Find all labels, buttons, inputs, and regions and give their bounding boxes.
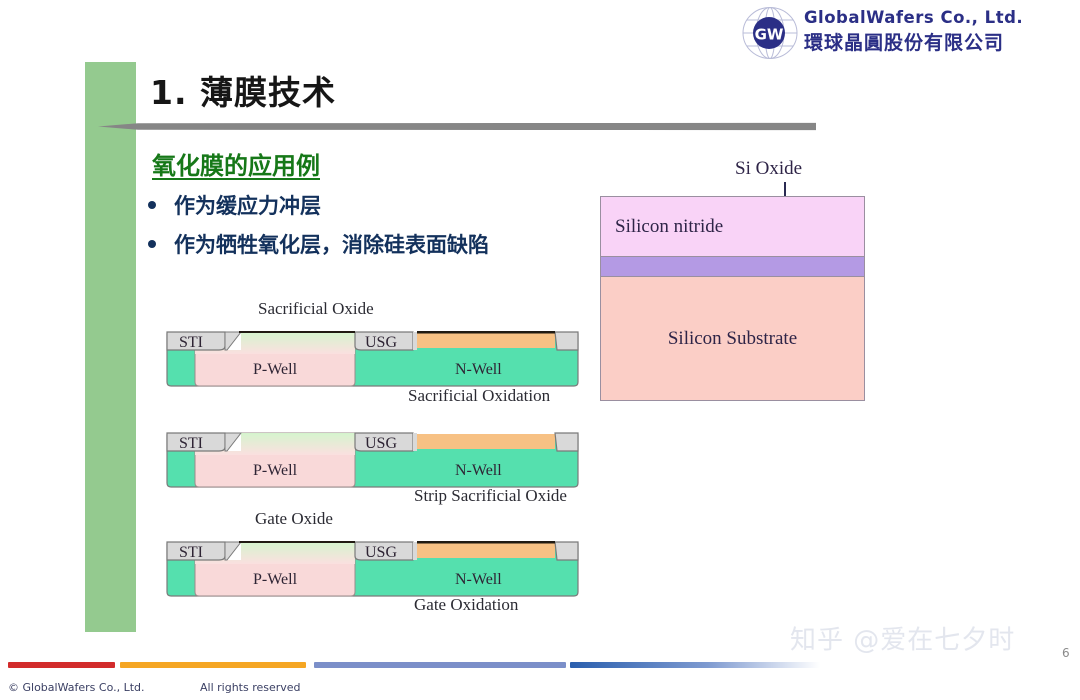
logo-mark-text: GW xyxy=(755,26,784,44)
si-oxide-callout-label: Si Oxide xyxy=(735,158,802,180)
film-stack-diagram: Silicon nitride Silicon Substrate xyxy=(600,196,865,401)
xsec-2-label-usg: USG xyxy=(365,435,397,452)
xsec-1-label-nwell: N-Well xyxy=(455,361,502,378)
footer-bar-orange xyxy=(120,662,306,668)
title-divider-rule xyxy=(98,122,816,131)
logo-company-name-cn: 環球晶圓股份有限公司 xyxy=(804,28,1044,55)
bullet-list: 作为缓应力冲层 作为牺牲氧化层，消除硅表面缺陷 xyxy=(148,190,489,268)
xsec-3-caption-bottom: Gate Oxidation xyxy=(414,595,518,615)
xsec-3-label-sti: STI xyxy=(179,544,203,561)
xsec-3-label-nwell: N-Well xyxy=(455,571,502,588)
layer-silicon-nitride: Silicon nitride xyxy=(601,197,864,257)
page-number: 6 xyxy=(1062,646,1070,660)
logo-company-name-en: GlobalWafers Co., Ltd. xyxy=(804,8,1044,27)
xsec-2-label-sti: STI xyxy=(179,435,203,452)
xsec-1-caption-bottom: Sacrificial Oxidation xyxy=(408,386,550,406)
watermark: 知乎 @爱在七夕时 xyxy=(790,620,1015,657)
footer-rights: All rights reserved xyxy=(200,681,301,694)
footer-copyright: © GlobalWafers Co., Ltd. xyxy=(8,681,145,694)
globe-icon: GW xyxy=(742,6,798,60)
company-logo: GW GlobalWafers Co., Ltd. 環球晶圓股份有限公司 xyxy=(742,4,1042,62)
accent-band xyxy=(85,62,136,632)
list-item: 作为缓应力冲层 xyxy=(148,190,489,220)
bullet-dot-icon xyxy=(148,240,156,248)
xsec-1-label-sti: STI xyxy=(179,334,203,351)
cross-section-diagram-3: STI P-Well USG N-Well xyxy=(165,530,580,596)
layer-si-oxide xyxy=(601,257,864,277)
bullet-dot-icon xyxy=(148,201,156,209)
page-title: 1. 薄膜技术 xyxy=(150,66,336,114)
footer-bar-red xyxy=(8,662,115,668)
cross-section-diagram-1: STI P-Well USG N-Well xyxy=(165,320,580,386)
xsec-3-label-pwell: P-Well xyxy=(253,571,298,588)
bullet-text: 作为牺牲氧化层，消除硅表面缺陷 xyxy=(174,229,489,259)
xsec-2-caption-bottom: Strip Sacrificial Oxide xyxy=(414,486,567,506)
xsec-1-label-pwell: P-Well xyxy=(253,361,298,378)
xsec-2-label-nwell: N-Well xyxy=(455,462,502,479)
xsec-3-label-usg: USG xyxy=(365,544,397,561)
footer-bar-periwinkle xyxy=(314,662,566,668)
layer-silicon-substrate: Silicon Substrate xyxy=(601,277,864,400)
layer-label: Silicon nitride xyxy=(601,216,723,238)
xsec-3-caption-top: Gate Oxide xyxy=(255,509,333,529)
list-item: 作为牺牲氧化层，消除硅表面缺陷 xyxy=(148,229,489,259)
slide-canvas: GW GlobalWafers Co., Ltd. 環球晶圓股份有限公司 1. … xyxy=(0,0,1080,700)
layer-label: Silicon Substrate xyxy=(668,328,797,350)
footer-bar-blue-fade xyxy=(570,662,820,668)
bullet-text: 作为缓应力冲层 xyxy=(174,190,321,220)
cross-section-diagram-2: STI P-Well USG N-Well xyxy=(165,421,580,487)
xsec-1-label-usg: USG xyxy=(365,334,397,351)
xsec-1-caption-top: Sacrificial Oxide xyxy=(258,299,374,319)
section-subheading: 氧化膜的应用例 xyxy=(152,146,320,181)
xsec-2-label-pwell: P-Well xyxy=(253,462,298,479)
